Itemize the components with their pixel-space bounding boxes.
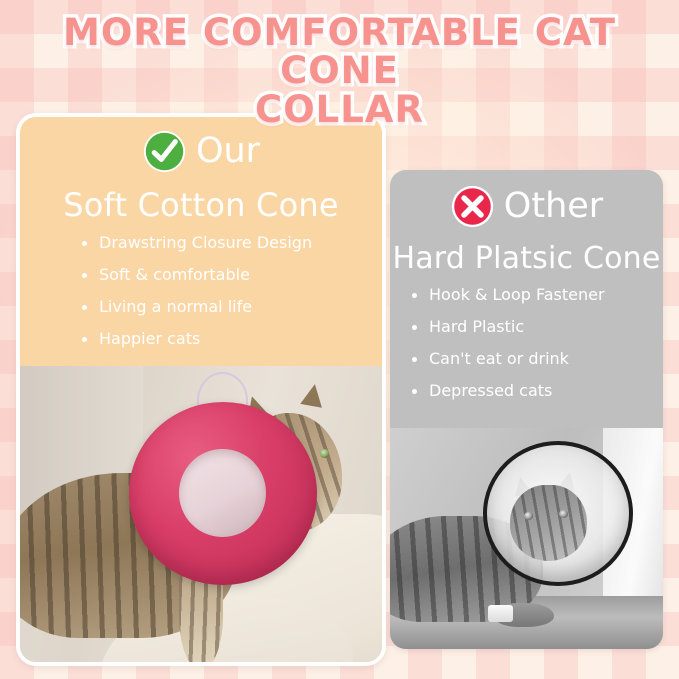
title-line-1: MORE COMFORTABLE CAT CONE: [0, 14, 679, 91]
list-item: Can't eat or drink: [412, 351, 663, 367]
list-item: Depressed cats: [412, 383, 663, 399]
our-heading: Soft Cotton Cone: [20, 189, 382, 223]
check-circle-icon: [142, 129, 187, 174]
title-line-2: COLLAR: [0, 91, 679, 129]
other-heading: Hard Platsic Cone: [390, 243, 663, 275]
list-item: Soft & comfortable: [82, 267, 382, 283]
list-item: Hard Plastic: [412, 319, 663, 335]
our-product-photo: [20, 366, 382, 662]
our-brand-row: Our: [20, 129, 382, 174]
our-feature-list: Drawstring Closure Design Soft & comfort…: [20, 235, 382, 347]
list-item: Happier cats: [82, 331, 382, 347]
other-brand-row: Other: [390, 184, 663, 229]
poster-title: MORE COMFORTABLE CAT CONE COLLAR: [0, 14, 679, 129]
other-product-photo: [390, 428, 663, 649]
our-brand-label: Our: [196, 134, 260, 169]
x-circle-icon: [450, 184, 495, 229]
other-feature-list: Hook & Loop Fastener Hard Plastic Can't …: [390, 287, 663, 399]
other-brand-label: Other: [504, 189, 603, 224]
list-item: Drawstring Closure Design: [82, 235, 382, 251]
other-product-panel: Other Hard Platsic Cone Hook & Loop Fast…: [390, 170, 663, 649]
our-product-panel: Our Soft Cotton Cone Drawstring Closure …: [16, 113, 386, 666]
list-item: Living a normal life: [82, 299, 382, 315]
list-item: Hook & Loop Fastener: [412, 287, 663, 303]
product-comparison-poster: MORE COMFORTABLE CAT CONE COLLAR Our Sof…: [0, 0, 679, 679]
